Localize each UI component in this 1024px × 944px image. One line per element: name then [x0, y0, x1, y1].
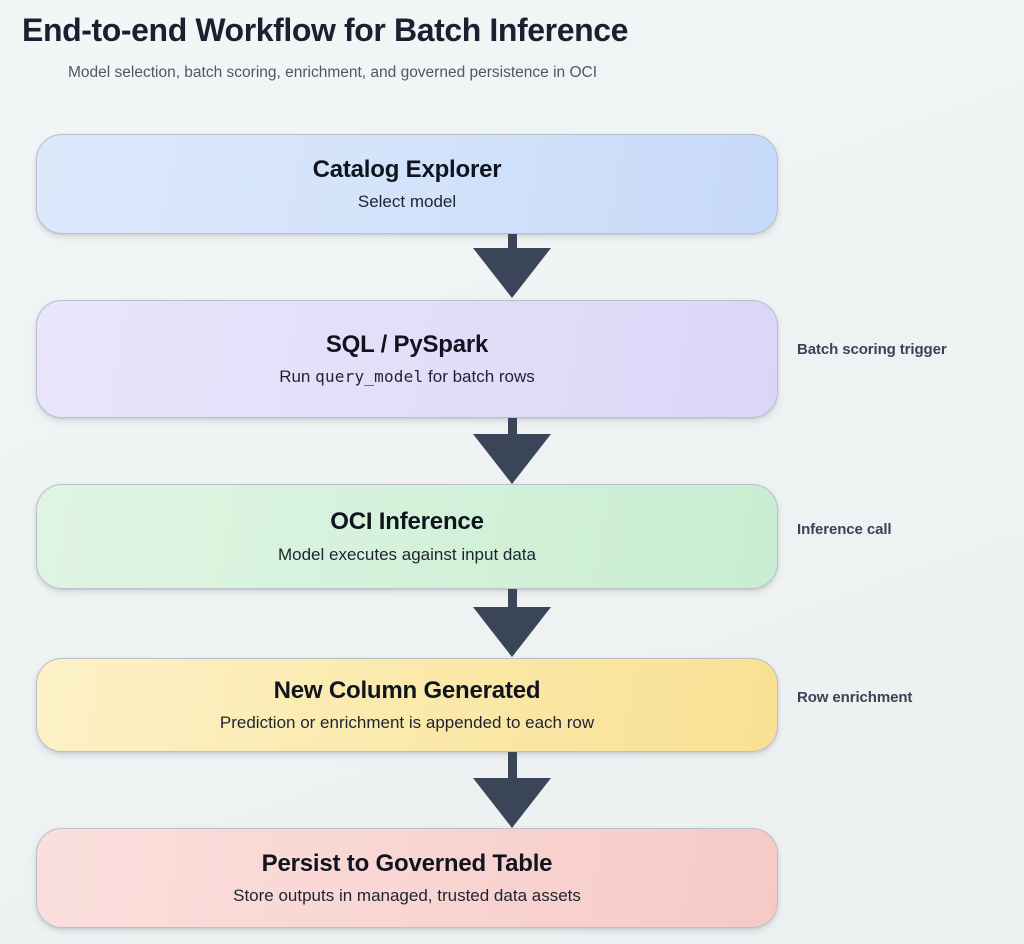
flow-node-sql-pyspark[interactable]: SQL / PySpark Run query_model for batch …: [36, 300, 778, 418]
flow-node-persist-governed-table[interactable]: Persist to Governed Table Store outputs …: [36, 828, 778, 928]
arrow-head-down-icon: [473, 607, 551, 657]
flow-node-subtitle-suffix: for batch rows: [423, 367, 535, 386]
arrow-stem: [508, 752, 517, 778]
arrow-head-down-icon: [473, 434, 551, 484]
flow-node-title: OCI Inference: [330, 508, 483, 536]
flow-node-catalog-explorer[interactable]: Catalog Explorer Select model: [36, 134, 778, 234]
flow-arrow-2-to-3: [0, 418, 1024, 484]
flow-node-oci-inference[interactable]: OCI Inference Model executes against inp…: [36, 484, 778, 589]
flow-arrow-4-to-5: [0, 752, 1024, 828]
flow-node-title: Catalog Explorer: [313, 156, 502, 184]
page-title: End-to-end Workflow for Batch Inference: [22, 12, 628, 49]
diagram-canvas: End-to-end Workflow for Batch Inference …: [0, 0, 1024, 944]
page-subtitle: Model selection, batch scoring, enrichme…: [68, 64, 597, 82]
flow-node-subtitle: Prediction or enrichment is appended to …: [220, 712, 594, 733]
edge-label-row-enrichment: Row enrichment: [797, 689, 912, 706]
flow-node-subtitle: Model executes against input data: [278, 544, 536, 565]
flow-node-subtitle: Store outputs in managed, trusted data a…: [233, 885, 581, 906]
flow-arrow-3-to-4: [0, 589, 1024, 657]
flow-node-title: New Column Generated: [274, 677, 541, 705]
flow-node-subtitle: Select model: [358, 191, 456, 212]
flow-node-new-column-generated[interactable]: New Column Generated Prediction or enric…: [36, 658, 778, 752]
flow-node-subtitle-prefix: Run: [279, 367, 315, 386]
flow-node-subtitle-code: query_model: [315, 367, 423, 386]
arrow-head-down-icon: [473, 778, 551, 828]
arrow-stem: [508, 589, 517, 607]
arrow-head-down-icon: [473, 248, 551, 298]
arrow-stem: [508, 418, 517, 434]
arrow-stem: [508, 234, 517, 248]
flow-node-title: Persist to Governed Table: [262, 850, 553, 878]
edge-label-inference-call: Inference call: [797, 521, 891, 538]
flow-node-subtitle: Run query_model for batch rows: [279, 366, 535, 387]
flow-arrow-1-to-2: [0, 234, 1024, 298]
edge-label-batch-scoring-trigger: Batch scoring trigger: [797, 341, 947, 358]
flow-node-title: SQL / PySpark: [326, 331, 488, 359]
